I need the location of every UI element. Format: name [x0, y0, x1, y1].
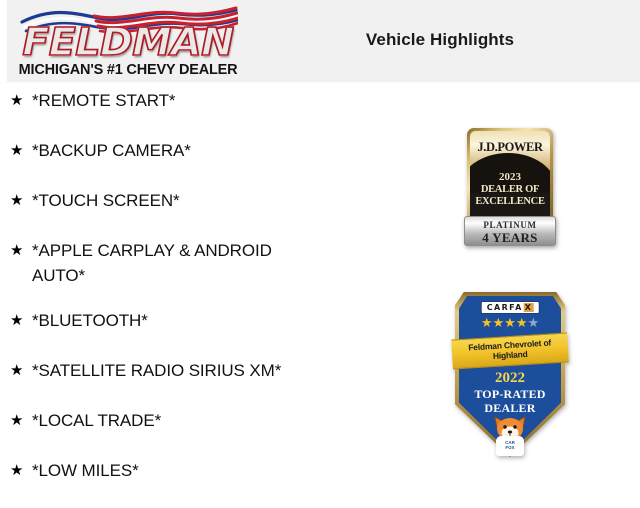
carfax-year-label: 2022	[455, 370, 565, 387]
jdpower-duration-label: 4 YEARS	[465, 230, 555, 246]
star-bullet-icon: ★	[10, 138, 32, 164]
car-fox-shirt-line-2: FOX	[505, 445, 514, 450]
carfax-stars-filled: ★★★★	[481, 315, 528, 330]
jdpower-award-badge: J.D.POWER 2023 DEALER OF EXCELLENCE PLAT…	[464, 128, 556, 246]
star-bullet-icon: ★	[10, 308, 32, 334]
vehicle-highlights-list: ★ *REMOTE START* ★ *BACKUP CAMERA* ★ *TO…	[0, 88, 350, 508]
list-item: ★ *TOUCH SCREEN*	[0, 188, 350, 238]
list-item-label: *LOCAL TRADE*	[32, 408, 350, 433]
star-bullet-icon: ★	[10, 408, 32, 434]
car-fox-shirt: CARFOX	[496, 436, 524, 456]
carfax-logo-icon: CARFAX	[481, 301, 540, 314]
dealer-logo-tagline: MICHIGAN'S #1 CHEVY DEALER	[12, 62, 244, 78]
car-fox-shirt-text: CARFOX	[496, 440, 524, 450]
star-bullet-icon: ★	[10, 238, 32, 264]
list-item: ★ *SATELLITE RADIO SIRIUS XM*	[0, 358, 350, 408]
star-bullet-icon: ★	[10, 188, 32, 214]
dealer-logo[interactable]: FELDMAN MICHIGAN'S #1 CHEVY DEALER	[12, 4, 244, 80]
carfax-dealer-name-label: Feldman Chevrolet of Highland	[451, 336, 568, 363]
jdpower-tier-label: PLATINUM	[465, 220, 555, 230]
dealer-logo-wordmark: FELDMAN	[7, 22, 248, 62]
list-item: ★ *LOCAL TRADE*	[0, 408, 350, 458]
list-item: ★ *APPLE CARPLAY & ANDROID AUTO*	[0, 238, 350, 308]
jdpower-plaque: J.D.POWER 2023 DEALER OF EXCELLENCE	[467, 128, 553, 223]
carfax-top-rated-dealer-badge: CARFAX ★★★★★ Feldman Chevrolet of Highla…	[455, 292, 565, 457]
star-bullet-icon: ★	[10, 88, 32, 114]
jdpower-brand-label: J.D.POWER	[470, 140, 550, 155]
awards-badges-column: J.D.POWER 2023 DEALER OF EXCELLENCE PLAT…	[440, 120, 590, 470]
list-item-label: *TOUCH SCREEN*	[32, 188, 350, 213]
carfax-award-line-1: TOP-RATED	[474, 387, 545, 401]
jdpower-ribbon: PLATINUM 4 YEARS	[464, 216, 556, 246]
jdpower-award-label: DEALER OF EXCELLENCE	[470, 184, 550, 208]
list-item-label: *REMOTE START*	[32, 88, 350, 113]
carfax-star-rating: ★★★★★	[455, 316, 565, 330]
carfax-logo-accent: X	[524, 303, 534, 312]
carfax-star-dim: ★	[527, 315, 539, 330]
car-fox-mascot-icon: CARFOX	[489, 414, 531, 456]
carfax-award-label: TOP-RATEDDEALER	[455, 387, 565, 415]
list-item: ★ *REMOTE START*	[0, 88, 350, 138]
carfax-logo-text: CARFA	[487, 303, 523, 312]
list-item-label: *BLUETOOTH*	[32, 308, 350, 333]
list-item-label: *LOW MILES*	[32, 458, 350, 483]
page-title: Vehicle Highlights	[310, 30, 570, 50]
list-item-label: *SATELLITE RADIO SIRIUS XM*	[32, 358, 350, 383]
list-item-label: *APPLE CARPLAY & ANDROID AUTO*	[32, 238, 312, 288]
list-item-label: *BACKUP CAMERA*	[32, 138, 350, 163]
list-item: ★ *LOW MILES*	[0, 458, 350, 508]
carfax-award-line-2: DEALER	[484, 401, 535, 415]
star-bullet-icon: ★	[10, 458, 32, 484]
jdpower-plaque-inner: J.D.POWER 2023 DEALER OF EXCELLENCE	[470, 131, 550, 220]
star-bullet-icon: ★	[10, 358, 32, 384]
list-item: ★ *BLUETOOTH*	[0, 308, 350, 358]
jdpower-year-label: 2023	[470, 171, 550, 183]
list-item: ★ *BACKUP CAMERA*	[0, 138, 350, 188]
header-left-gutter	[0, 0, 7, 82]
